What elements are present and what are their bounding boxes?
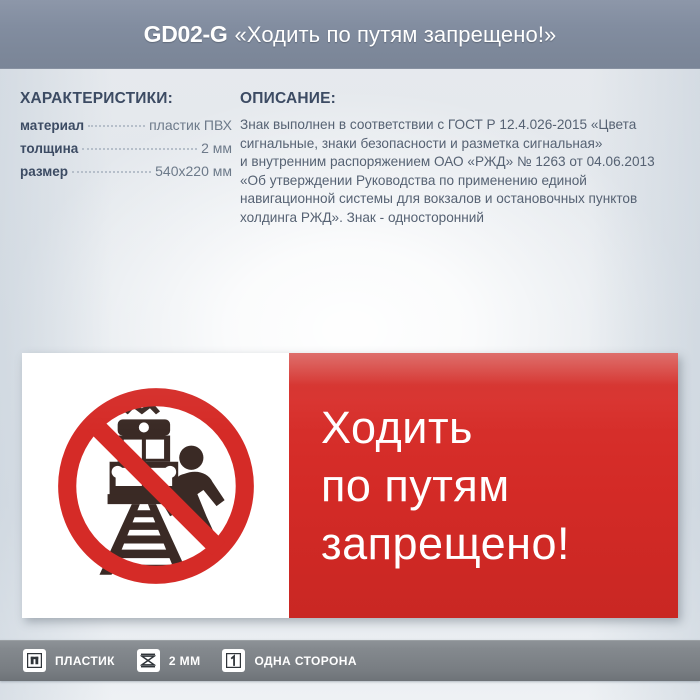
one-side-icon: [222, 649, 245, 672]
description-line: сигнальные, знаки безопасности и разметк…: [240, 135, 688, 154]
product-code: GD02-G: [144, 21, 228, 47]
characteristics-row: толщина 2 мм: [20, 138, 232, 159]
sign-pictogram-panel: [22, 353, 289, 618]
footer-label: 2 ММ: [169, 654, 201, 668]
characteristics-row: размер 540x220 мм: [20, 161, 232, 182]
page-header: GD02-G«Ходить по путям запрещено!»: [0, 0, 700, 69]
characteristic-key: размер: [20, 162, 68, 182]
characteristic-key: материал: [20, 116, 84, 136]
description-line: и внутренним распоряжением ОАО «РЖД» № 1…: [240, 153, 688, 172]
dot-leader: [72, 165, 151, 173]
characteristics-section: ХАРАКТЕРИСТИКИ: материал пластик ПВХ тол…: [20, 90, 232, 184]
characteristic-value: 540x220 мм: [155, 161, 232, 181]
sign-text-line: по путям: [321, 457, 678, 515]
characteristics-row: материал пластик ПВХ: [20, 115, 232, 136]
characteristic-key: толщина: [20, 139, 78, 159]
plastic-icon: [23, 649, 46, 672]
sign-preview: Ходить по путям запрещено!: [22, 353, 678, 618]
characteristic-value: пластик ПВХ: [149, 115, 232, 135]
header-inner: GD02-G«Ходить по путям запрещено!»: [144, 21, 557, 48]
footer-item-material: ПЛАСТИК: [23, 649, 115, 672]
description-line: холдинга РЖД». Знак - односторонний: [240, 209, 688, 228]
page-title: «Ходить по путям запрещено!»: [234, 22, 556, 47]
characteristics-heading: ХАРАКТЕРИСТИКИ:: [20, 90, 232, 108]
dot-leader: [88, 119, 145, 127]
dot-leader: [82, 142, 197, 150]
footer-item-thickness: 2 ММ: [137, 649, 201, 672]
poster-page: GD02-G«Ходить по путям запрещено!» ХАРАК…: [0, 0, 700, 700]
no-walking-on-tracks-pictogram: [45, 375, 267, 597]
sign-text-line: Ходить: [321, 399, 678, 457]
sign-text-panel: Ходить по путям запрещено!: [289, 353, 678, 618]
footer-label: ОДНА СТОРОНА: [254, 654, 356, 668]
sign-text-line: запрещено!: [321, 515, 678, 573]
description-body: Знак выполнен в соответствии с ГОСТ Р 12…: [240, 116, 688, 228]
description-line: «Об утверждении Руководства по применени…: [240, 172, 688, 191]
description-section: ОПИСАНИЕ: Знак выполнен в соответствии с…: [240, 90, 688, 228]
footer-item-sides: ОДНА СТОРОНА: [222, 649, 356, 672]
specs-footer: ПЛАСТИК 2 ММ ОДНА СТОРОНА: [0, 640, 700, 681]
description-line: Знак выполнен в соответствии с ГОСТ Р 12…: [240, 116, 688, 135]
description-line: навигационной системы для вокзалов и ост…: [240, 190, 688, 209]
thickness-icon: [137, 649, 160, 672]
footer-label: ПЛАСТИК: [55, 654, 115, 668]
characteristic-value: 2 мм: [201, 138, 232, 158]
description-heading: ОПИСАНИЕ:: [240, 90, 688, 108]
